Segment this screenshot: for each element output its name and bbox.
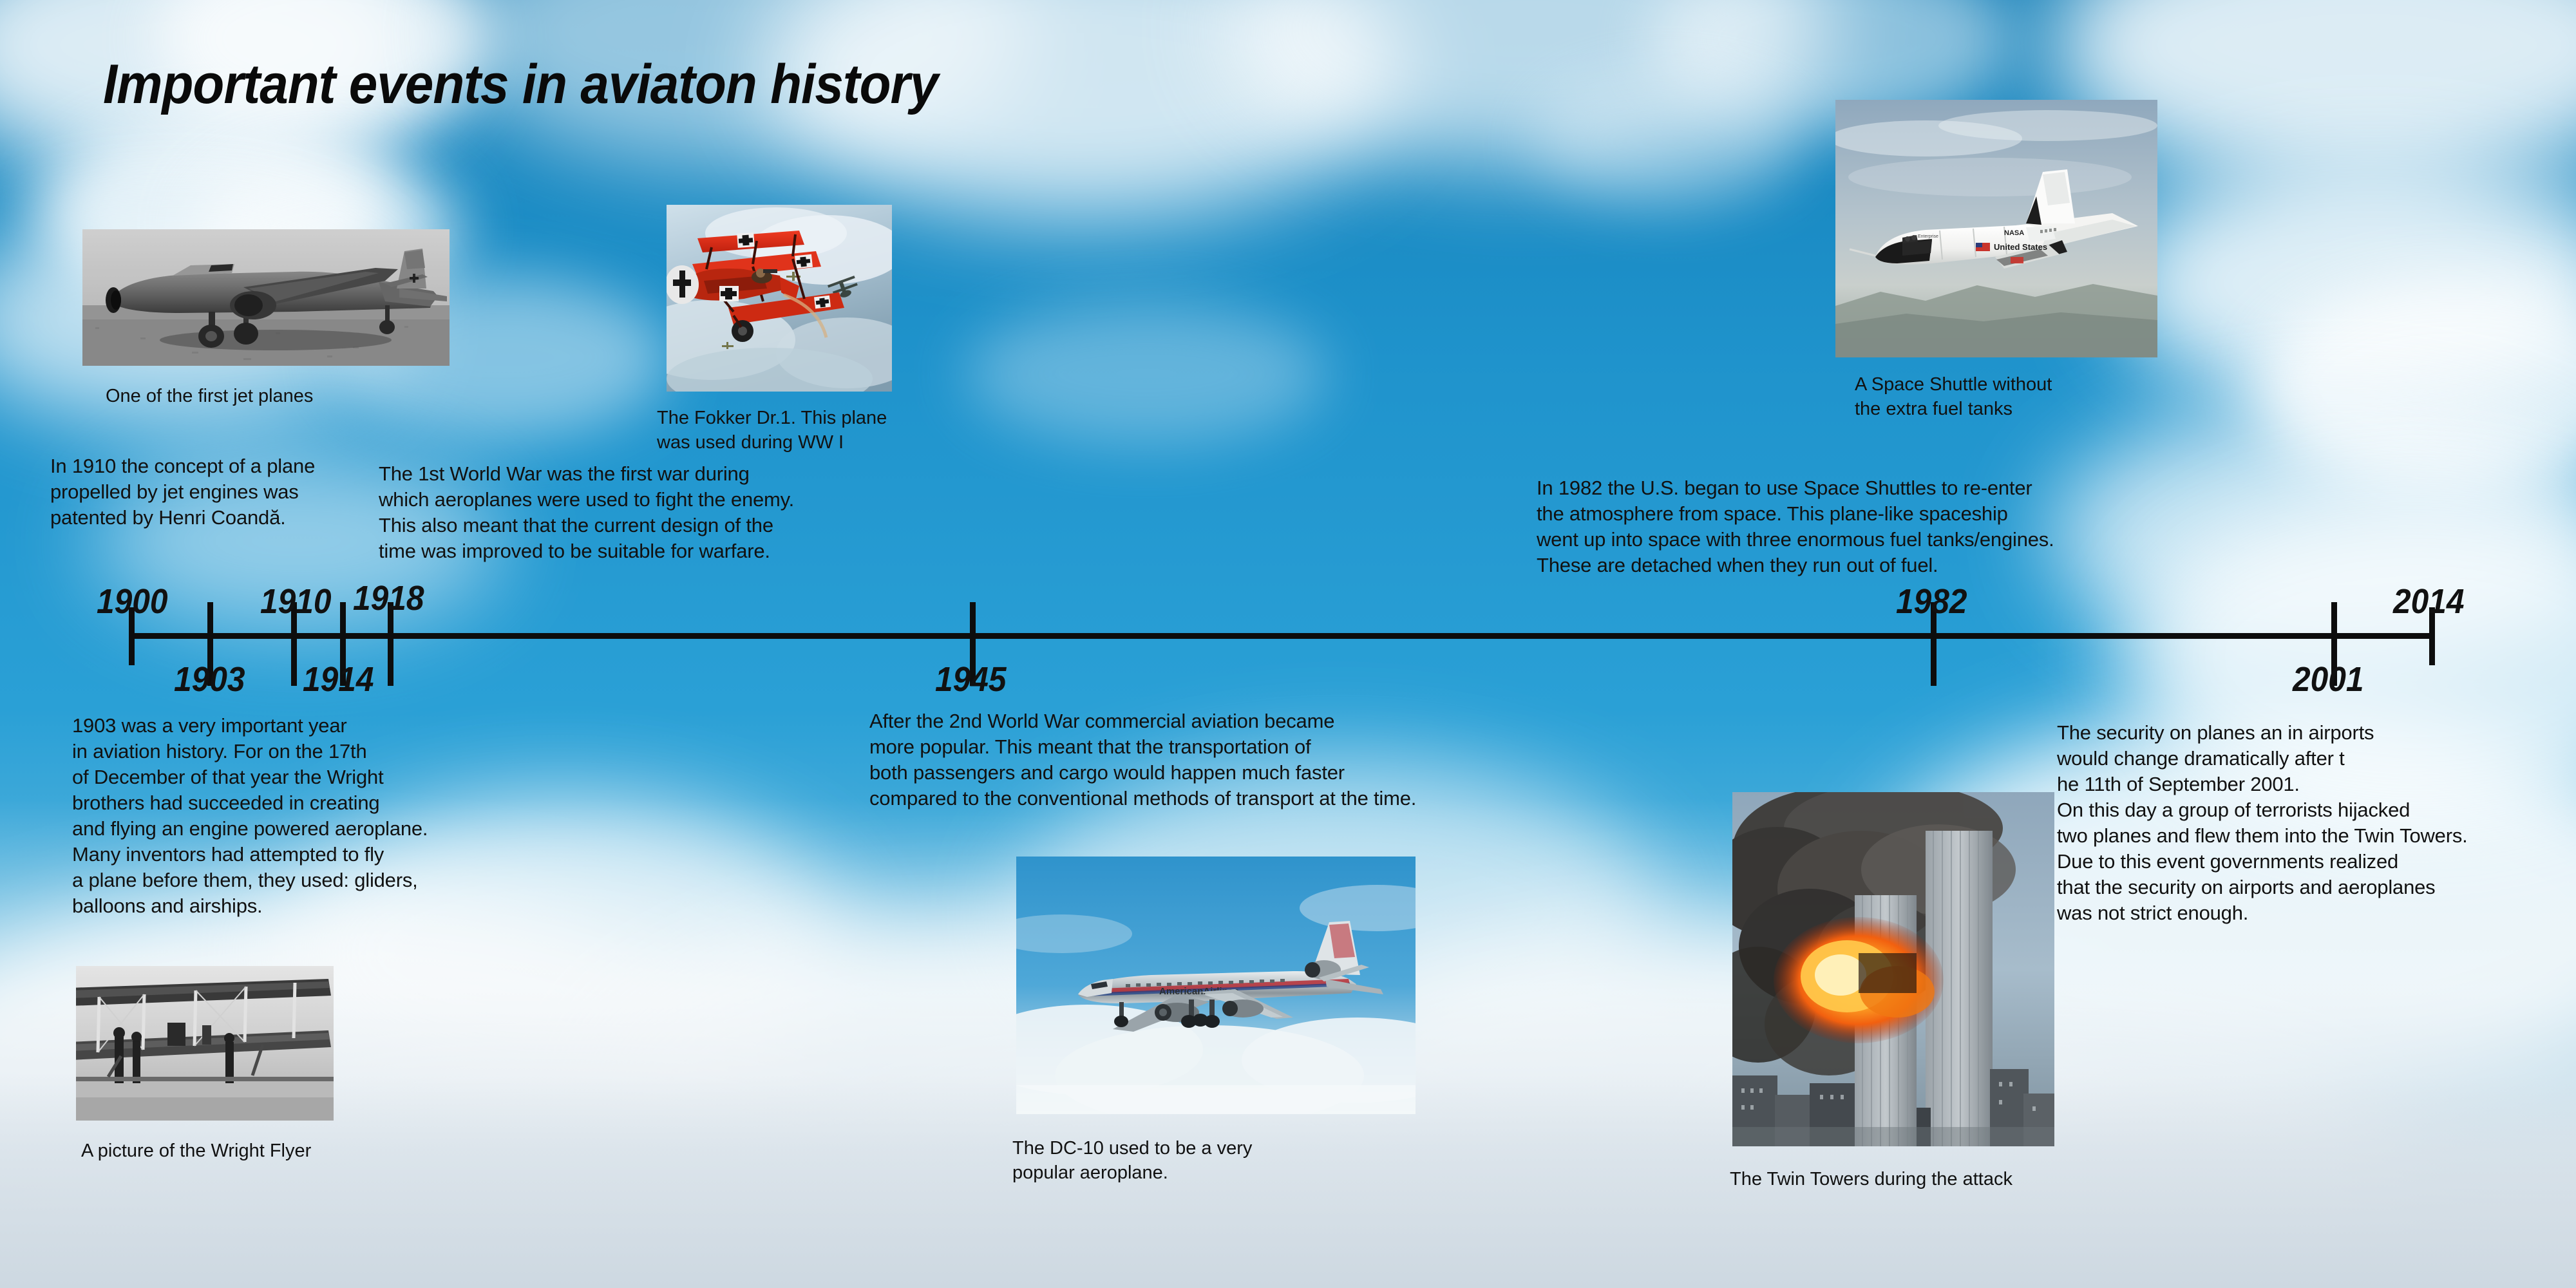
timeline-year-1918: 1918 [353, 578, 424, 618]
event-text-1982: In 1982 the U.S. began to use Space Shut… [1537, 475, 2155, 578]
timeline-axis [129, 633, 2434, 639]
event-text-1918: The 1st World War was the first war duri… [379, 461, 920, 564]
timeline-year-1900: 1900 [97, 582, 168, 621]
wright-flyer-image [76, 966, 334, 1121]
twin-towers-image [1732, 792, 2054, 1146]
infographic-canvas: Important events in aviaton history [0, 0, 2576, 1288]
timeline-year-1914: 1914 [303, 659, 374, 699]
photo-fokker-caption: The Fokker Dr.1. This plane was used dur… [657, 406, 914, 455]
photo-twin-towers-caption: The Twin Towers during the attack [1730, 1167, 2090, 1191]
photo-fokker [667, 205, 892, 392]
timeline-year-2001: 2001 [2293, 659, 2364, 699]
photo-twin-towers [1732, 792, 2054, 1146]
space-shuttle-image: United States NASA Enterprise [1835, 100, 2157, 357]
photo-jet-plane [82, 229, 450, 366]
timeline-year-2014: 2014 [2393, 582, 2465, 621]
shuttle-enterprise-text: Enterprise [1918, 234, 1938, 239]
timeline-year-1982: 1982 [1896, 582, 1967, 621]
event-text-2001: The security on planes an in airports wo… [2057, 720, 2546, 926]
photo-space-shuttle-caption: A Space Shuttle without the extra fuel t… [1855, 372, 2138, 422]
event-text-1903: 1903 was a very important year in aviati… [72, 713, 523, 919]
shuttle-nasa-text: NASA [2004, 229, 2024, 237]
photo-wright-flyer [76, 966, 334, 1121]
photo-space-shuttle: United States NASA Enterprise [1835, 100, 2157, 357]
dc10-image: AmericanAirlines [1016, 857, 1416, 1114]
timeline-year-1903: 1903 [174, 659, 245, 699]
timeline-year-1910: 1910 [260, 582, 332, 621]
timeline-year-1945: 1945 [935, 659, 1007, 699]
page-title: Important events in aviaton history [103, 57, 938, 112]
photo-dc10-caption: The DC-10 used to be a very popular aero… [1012, 1136, 1321, 1186]
fokker-triplane-image [667, 205, 892, 392]
jet-plane-image [82, 229, 450, 366]
shuttle-united-states-text: United States [1994, 242, 2047, 252]
event-text-1945: After the 2nd World War commercial aviat… [869, 708, 1526, 811]
photo-dc10: AmericanAirlines [1016, 857, 1416, 1114]
photo-jet-plane-caption: One of the first jet planes [106, 384, 402, 408]
photo-wright-flyer-caption: A picture of the Wright Flyer [81, 1139, 377, 1163]
event-text-1910: In 1910 the concept of a plane propelled… [50, 453, 398, 531]
